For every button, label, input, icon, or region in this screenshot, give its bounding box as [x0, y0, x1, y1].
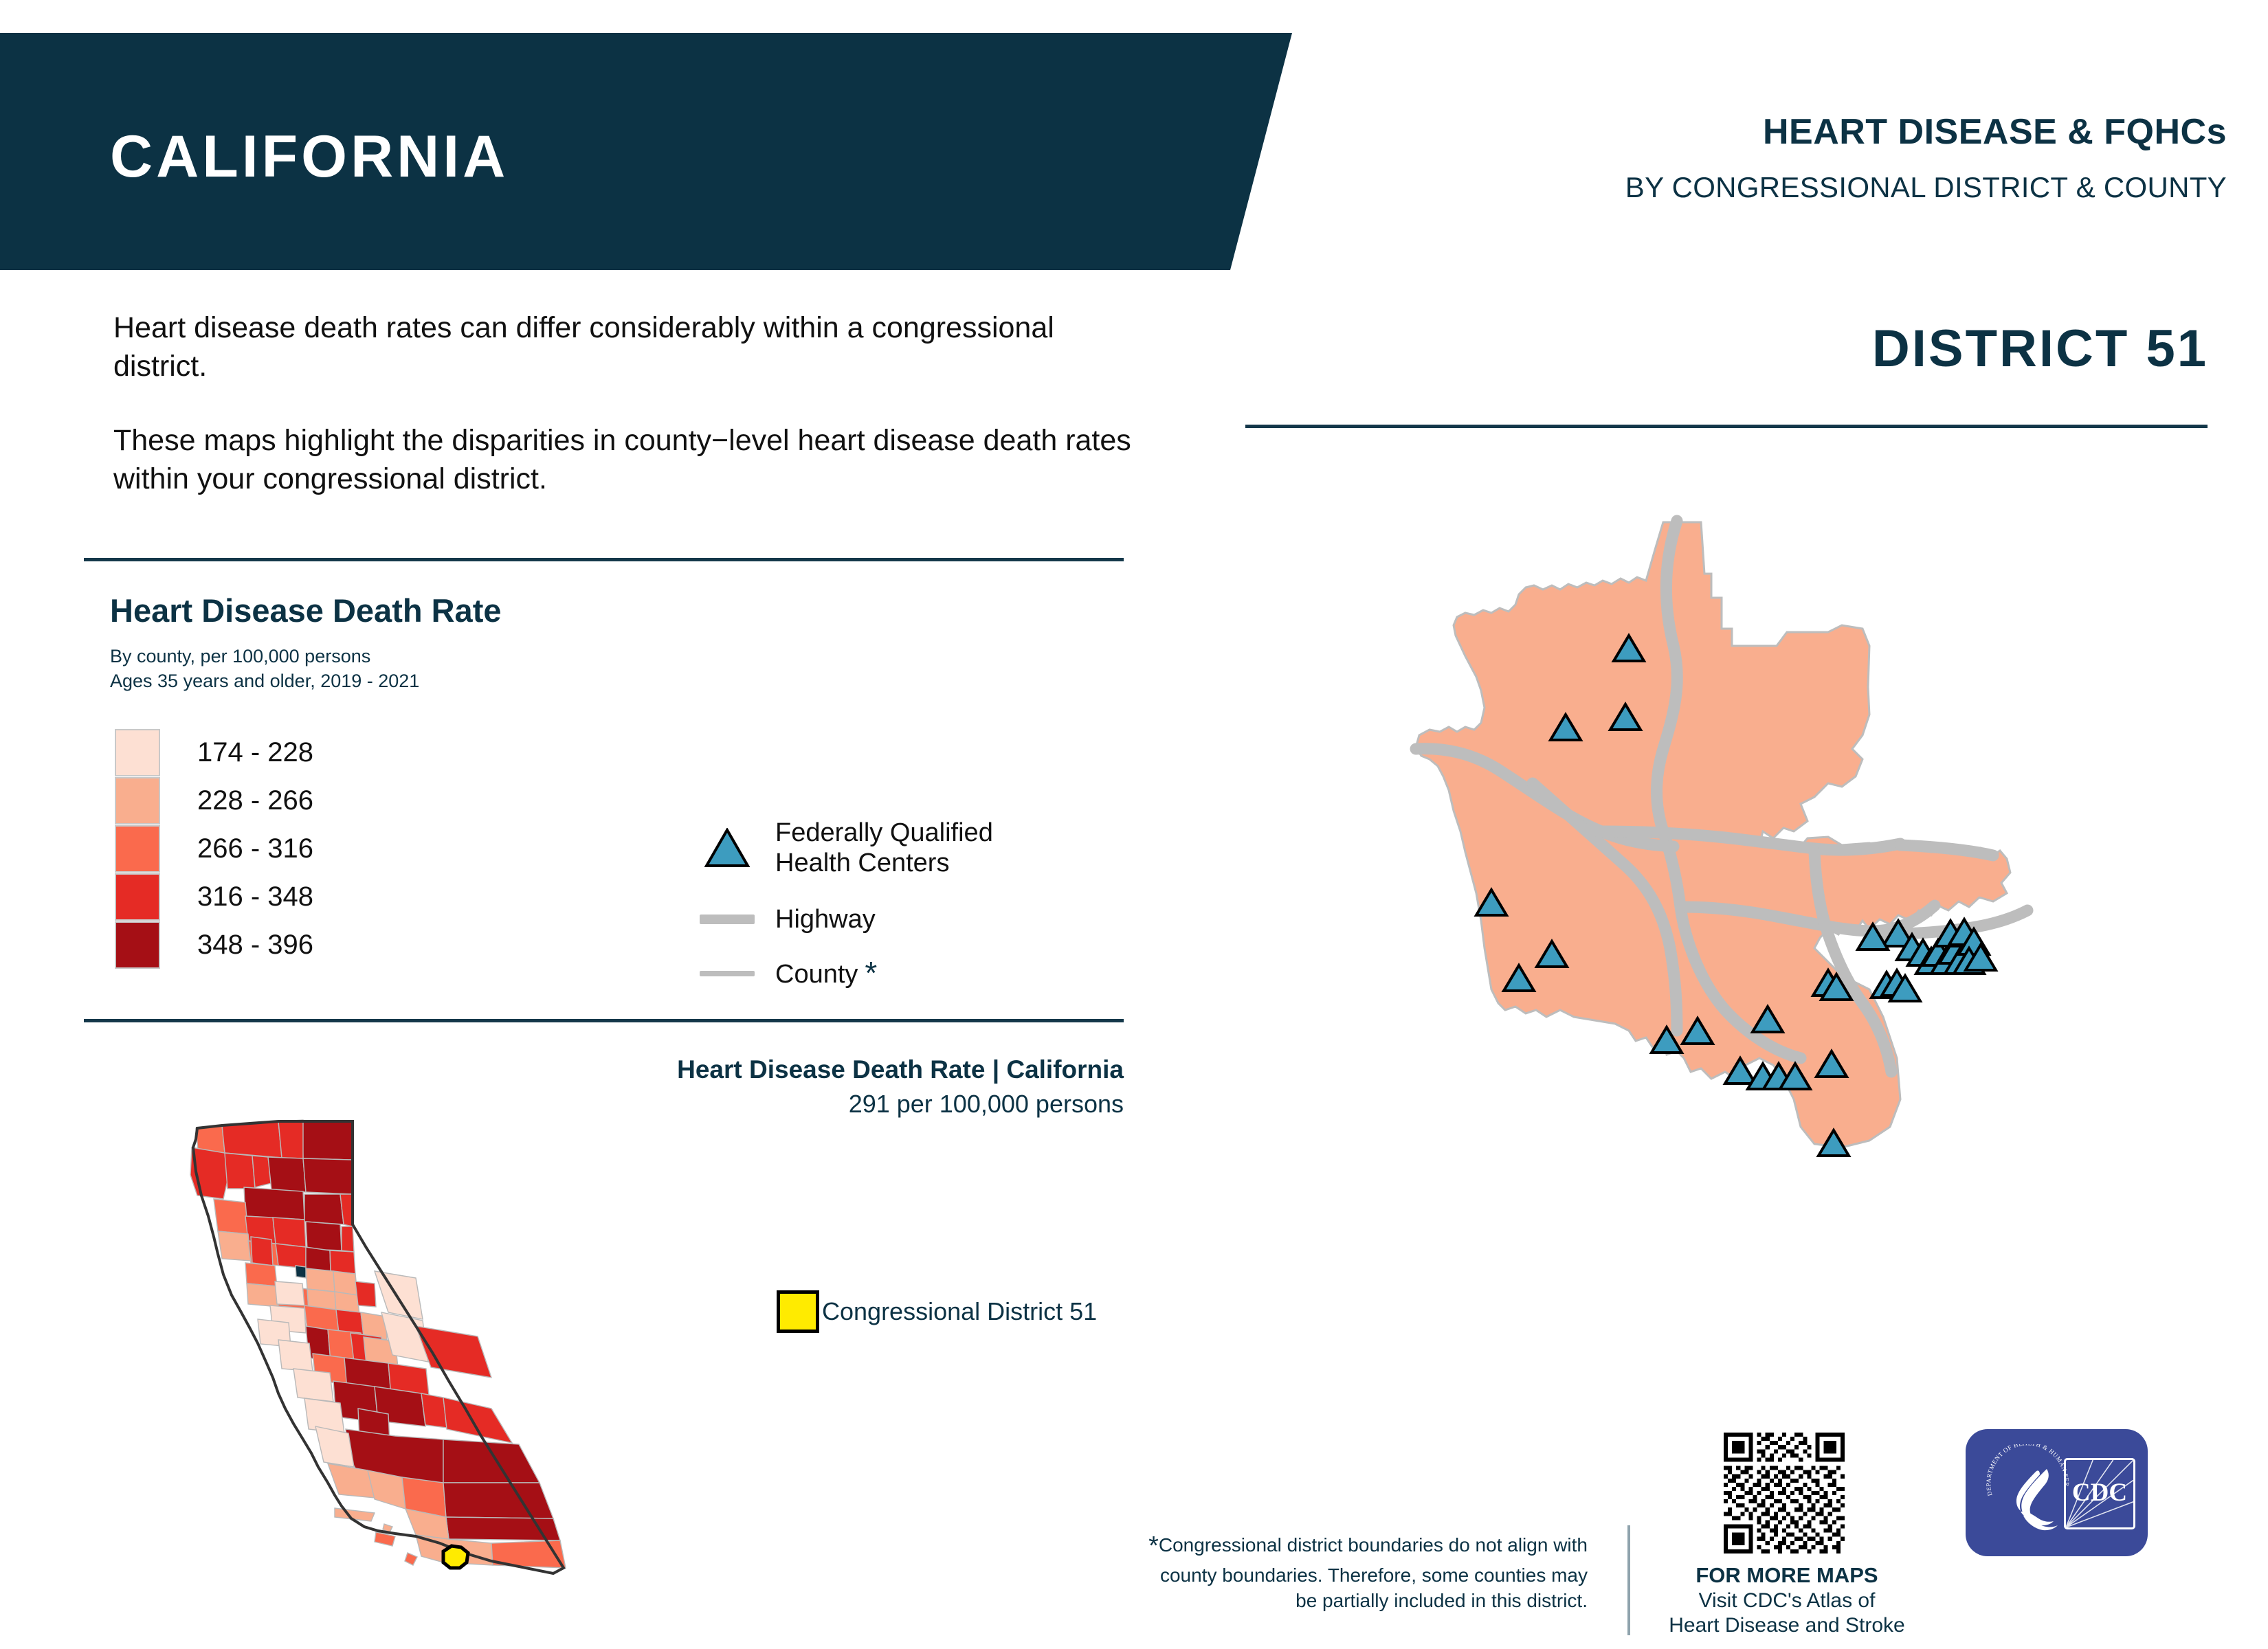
highway-line-icon [694, 915, 760, 924]
county [355, 1281, 376, 1307]
poster-subtitle: BY CONGRESSIONAL DISTRICT & COUNTY [1306, 172, 2227, 203]
legend-swatch-1 [115, 729, 160, 776]
intro-text: Heart disease death rates can differ con… [113, 309, 1144, 499]
legend-swatch-3 [115, 825, 160, 873]
cdc-hhs-logo: DEPARTMENT OF HEALTH & HUMAN SERVICES·US… [1966, 1429, 2148, 1556]
color-ramp-legend: 174 - 228 228 - 266 266 - 316 316 - 348 … [115, 728, 313, 969]
county [443, 1483, 553, 1518]
county [306, 1268, 335, 1292]
county [214, 1199, 248, 1234]
county [268, 1157, 306, 1192]
county [276, 1244, 306, 1268]
legend-class-row: 266 - 316 [115, 824, 313, 873]
legend-class-row: 174 - 228 [115, 728, 313, 776]
county [306, 1222, 342, 1250]
footnote: *Congressional district boundaries do no… [1141, 1529, 1588, 1614]
county [218, 1231, 251, 1261]
cdc-logo-text: CDC [2066, 1478, 2133, 1507]
divider-left-top [84, 558, 1124, 561]
county [443, 1398, 512, 1443]
intro-paragraph-2: These maps highlight the disparities in … [113, 422, 1144, 499]
legend-subheading: By county, per 100,000 persons Ages 35 y… [110, 644, 419, 694]
legend-fqhc-label: Federally Qualified Health Centers [775, 818, 993, 878]
district-map [1388, 508, 2076, 1196]
county [303, 1158, 353, 1194]
legend-swatch-4 [115, 873, 160, 921]
divider-left-bottom [84, 1019, 1124, 1022]
county [443, 1439, 540, 1483]
ca-counties [190, 1120, 566, 1573]
district-title: DISTRICT 51 [1306, 323, 2208, 375]
county-line-icon [694, 971, 760, 976]
county [296, 1266, 306, 1278]
congressional-district-legend: Congressional District 51 [777, 1290, 1097, 1333]
legend-fqhc-line-2: Health Centers [775, 848, 993, 878]
legend-highway-row: Highway [694, 904, 993, 934]
legend-label-3: 266 - 316 [197, 835, 313, 862]
county [293, 1369, 333, 1402]
footnote-text: Congressional district boundaries do not… [1159, 1534, 1588, 1611]
county [251, 1237, 273, 1266]
county [342, 1226, 354, 1252]
more-maps-line-2: Heart Disease and Stroke [1649, 1613, 1924, 1638]
legend-heading: Heart Disease Death Rate [110, 594, 502, 627]
legend-county-label: County* [775, 955, 877, 991]
county [302, 1121, 353, 1160]
intro-paragraph-1: Heart disease death rates can differ con… [113, 309, 1144, 386]
cd-label: Congressional District 51 [822, 1299, 1097, 1324]
divider-right-top [1245, 425, 2208, 428]
legend-fqhc-row: Federally Qualified Health Centers [694, 818, 993, 878]
more-maps-title: FOR MORE MAPS [1649, 1563, 1924, 1589]
legend-swatch-2 [115, 777, 160, 824]
county [306, 1247, 331, 1271]
map-symbol-legend: Federally Qualified Health Centers Highw… [694, 818, 993, 992]
legend-class-row: 316 - 348 [115, 873, 313, 921]
legend-class-row: 228 - 266 [115, 776, 313, 824]
county [278, 1120, 303, 1158]
state-title: CALIFORNIA [110, 127, 509, 186]
county-footnote-marker: * [865, 955, 877, 991]
county [273, 1218, 306, 1247]
county [244, 1187, 304, 1220]
county [222, 1121, 282, 1158]
legend-county-text: County [775, 960, 858, 989]
legend-sub-line-1: By county, per 100,000 persons [110, 644, 419, 669]
fqhc-triangle-icon [694, 828, 760, 868]
county [278, 1340, 313, 1371]
california-inset-map [168, 1106, 574, 1587]
legend-county-row: County* [694, 955, 993, 991]
footer-divider [1627, 1525, 1630, 1635]
highlighted-district [443, 1546, 468, 1568]
county [225, 1153, 255, 1189]
county [421, 1393, 447, 1428]
county [247, 1283, 278, 1307]
state-rate-title: Heart Disease Death Rate | California [412, 1055, 1124, 1085]
legend-class-row: 348 - 396 [115, 921, 313, 969]
legend-label-4: 316 - 348 [197, 883, 313, 910]
county [405, 1553, 417, 1565]
county [333, 1271, 357, 1295]
poster-title: HEART DISEASE & FQHCs [1375, 113, 2227, 151]
legend-sub-line-2: Ages 35 years and older, 2019 - 2021 [110, 669, 419, 694]
legend-swatch-5 [115, 921, 160, 969]
legend-highway-label: Highway [775, 904, 876, 934]
more-maps-line-1: Visit CDC's Atlas of [1649, 1589, 1924, 1613]
legend-label-1: 174 - 228 [197, 739, 313, 766]
legend-fqhc-line-1: Federally Qualified [775, 818, 993, 848]
legend-label-2: 228 - 266 [197, 787, 313, 814]
more-maps-block: FOR MORE MAPS Visit CDC's Atlas of Heart… [1649, 1563, 1924, 1638]
poster-root: CALIFORNIA HEART DISEASE & FQHCs BY CONG… [0, 0, 2268, 1649]
county [245, 1263, 277, 1286]
county [304, 1194, 344, 1224]
county [275, 1281, 304, 1305]
legend-label-5: 348 - 396 [197, 931, 313, 958]
cd-swatch [777, 1290, 819, 1333]
qr-code-icon[interactable] [1724, 1433, 1845, 1553]
footnote-marker: * [1148, 1532, 1159, 1560]
county [330, 1250, 355, 1274]
hhs-seal-icon: DEPARTMENT OF HEALTH & HUMAN SERVICES·US… [1981, 1444, 2077, 1540]
cdc-logo-box: CDC [2064, 1458, 2135, 1529]
county [416, 1326, 491, 1378]
